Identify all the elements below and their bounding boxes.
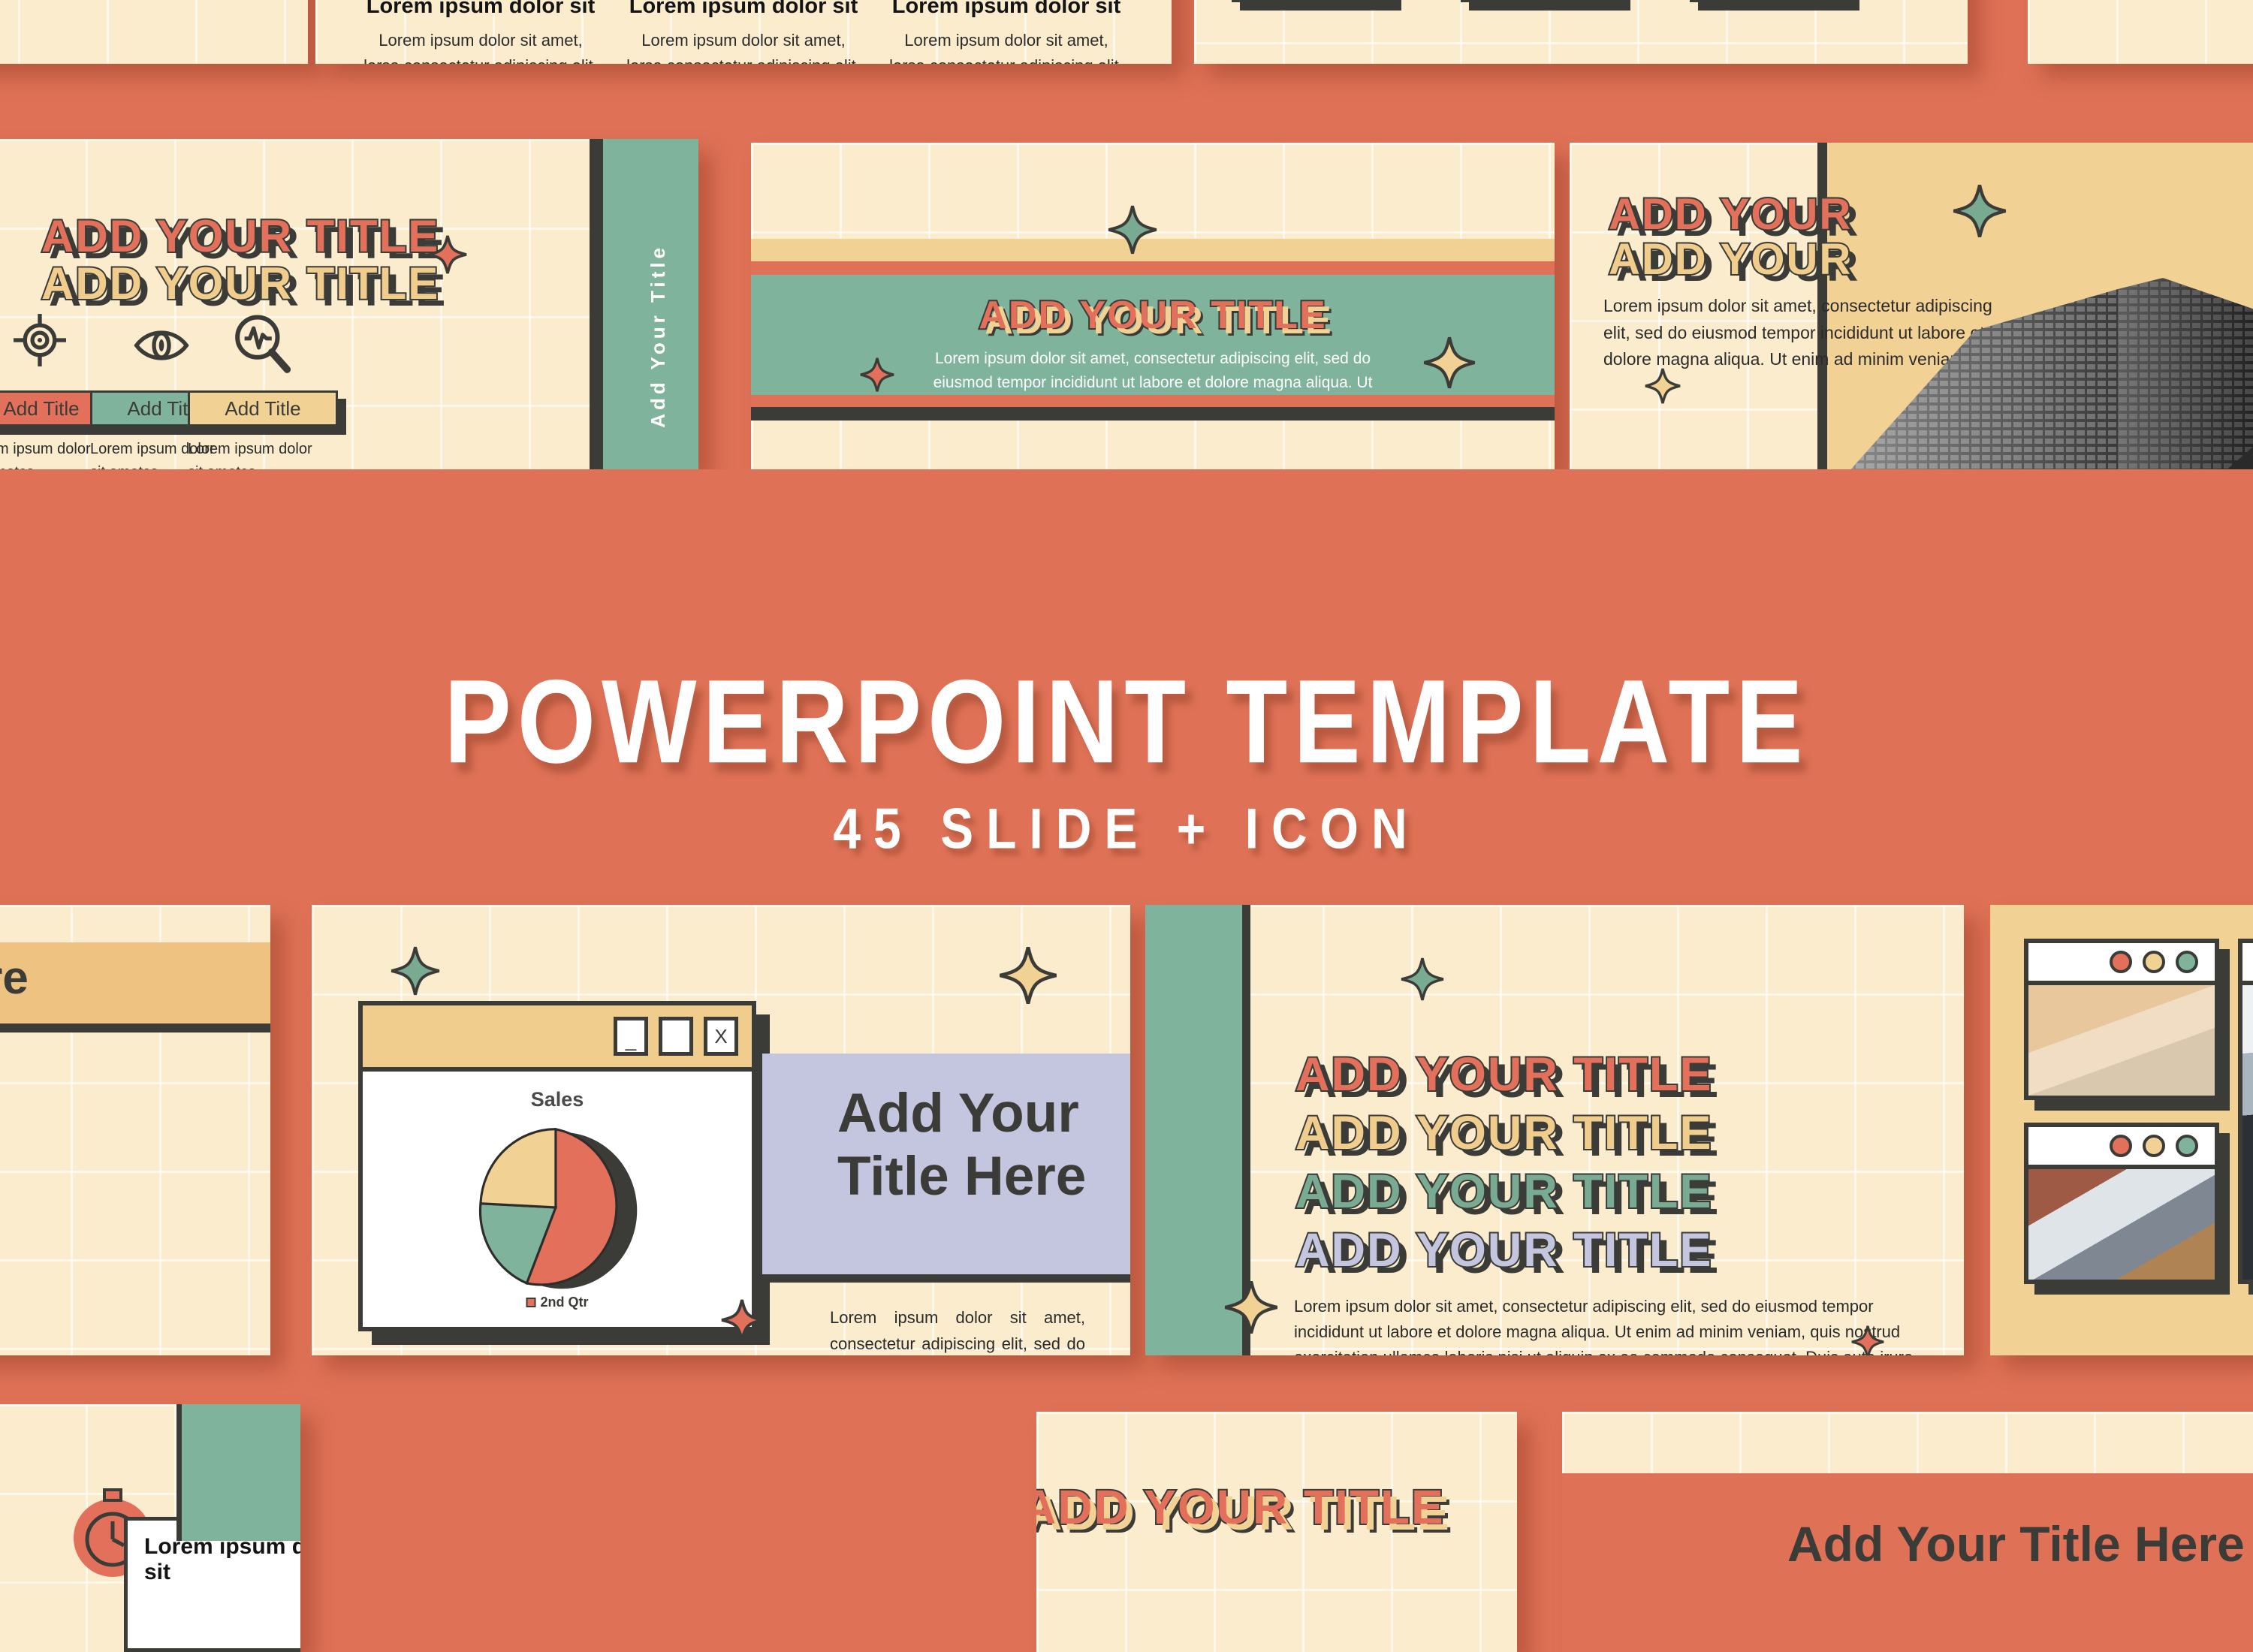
mac-window-1[interactable] <box>2024 939 2219 1100</box>
building-title-line-1: ADD YOUR <box>1609 189 1852 240</box>
slide-chart[interactable]: _ X Sales 2nd Qtr Add Your Titl <box>312 905 1130 1355</box>
slide-features[interactable]: ADD YOUR TITLE ADD YOUR TITLE Add <box>0 139 698 469</box>
feature-button-3[interactable]: Add Title <box>188 390 338 427</box>
title-row-3: ADD YOUR TITLE <box>1295 1165 1712 1219</box>
add-title-button-1[interactable]: Add Title <box>1232 0 1393 2</box>
sparkle-icon-yellow <box>1224 1280 1278 1334</box>
chart-body: Lorem ipsum dolor sit amet, consectetur … <box>830 1304 1085 1355</box>
bottom-right-title: Add Your Title Here <box>1787 1515 2245 1572</box>
slide-top-left-partial[interactable]: tempor incididunt ut labore et ullamco l… <box>0 0 308 64</box>
building-photo <box>1802 248 2253 473</box>
chart-window[interactable]: _ X Sales 2nd Qtr <box>358 1001 756 1331</box>
title-row-1: ADD YOUR TITLE <box>1295 1048 1712 1102</box>
photo-team-meeting <box>2028 985 2215 1096</box>
slide-top-gallery[interactable]: Add Title Add Title Add Title <box>1194 0 1968 64</box>
pulse-search-icon <box>229 310 294 375</box>
slide-top-three-column[interactable]: Lorem ipsum dolor sit Lorem ipsum dolor … <box>315 0 1172 64</box>
mac-window-3[interactable] <box>2238 939 2253 1284</box>
column-3[interactable]: Lorem ipsum dolor sit Lorem ipsum dolor … <box>886 0 1126 64</box>
grid-background <box>1194 0 1968 64</box>
banner-stripe-coral-lower <box>751 395 1555 407</box>
banner-stripe-dark <box>751 407 1555 421</box>
sparkle-icon-coral <box>721 1299 763 1341</box>
close-dot-icon[interactable] <box>2110 951 2132 973</box>
partial-text-line-2: ullamco laboris nisi ut aliquip <box>0 0 38 5</box>
column-heading: Lorem ipsum dolor sit <box>886 0 1126 19</box>
slide-four-titles[interactable]: ADD YOUR TITLE ADD YOUR TITLE ADD YOUR T… <box>1145 905 1964 1355</box>
slide-bottom-center-partial[interactable]: ADD YOUR TITLE <box>1036 1412 1517 1652</box>
sparkle-icon-coral <box>1851 1325 1884 1355</box>
minimize-dot-icon[interactable] <box>2143 951 2165 973</box>
column-body: Lorem ipsum dolor sit amet, lersa consec… <box>886 28 1126 64</box>
maximize-dot-icon[interactable] <box>2176 1135 2198 1157</box>
chart-heading-line-1: Add Your <box>837 1082 1079 1144</box>
heading-band-underline <box>0 1023 270 1032</box>
column-body: Lorem ipsum dolor sit amet, lersa consec… <box>623 28 864 64</box>
green-block <box>176 1404 300 1541</box>
legend-label: 2nd Qtr <box>540 1295 588 1310</box>
features-sidebar <box>590 139 698 469</box>
slide-photo-frames[interactable] <box>1990 905 2253 1355</box>
window-title-bar[interactable]: _ X <box>363 1005 752 1072</box>
add-title-button-2[interactable]: Add Title <box>1461 0 1622 2</box>
chart-canvas: Sales 2nd Qtr <box>363 1072 752 1327</box>
maximize-button[interactable] <box>659 1017 693 1056</box>
card-heading: Lorem ipsum dolor sit <box>144 1534 300 1585</box>
add-title-button-3[interactable]: Add Title <box>1690 0 1851 2</box>
banner-stripe-coral <box>751 261 1555 275</box>
title-row-2: ADD YOUR TITLE <box>1295 1106 1712 1160</box>
bottom-center-title: ADD YOUR TITLE <box>1036 1479 1445 1535</box>
close-dot-icon[interactable] <box>2110 1135 2132 1157</box>
slide-bottom-right-partial[interactable]: Add Your Title Here <box>1562 1412 2253 1652</box>
features-title-line-1: ADD YOUR TITLE <box>41 210 439 262</box>
feature-body-3: Lorem ipsum dolor sit ametca consectetur… <box>188 438 330 469</box>
mac-title-bar[interactable] <box>2028 1127 2215 1169</box>
sparkle-icon-yellow <box>1423 336 1476 389</box>
column-1[interactable]: Lorem ipsum dolor sit Lorem ipsum dolor … <box>360 0 601 64</box>
sparkle-icon-green <box>391 946 440 996</box>
minimize-dot-icon[interactable] <box>2143 1135 2165 1157</box>
column-heading: Lorem ipsum dolor sit <box>623 0 864 19</box>
column-2[interactable]: Lorem ipsum dolor sit Lorem ipsum dolor … <box>623 0 864 64</box>
slide-building[interactable]: ADD YOUR ADD YOUR Lorem ipsum dolor sit … <box>1570 143 2253 473</box>
legend-swatch <box>526 1298 535 1307</box>
column-body: Lorem ipsum dolor sit amet, lersa consec… <box>360 28 601 64</box>
grid-background <box>2028 0 2253 64</box>
close-button[interactable]: X <box>704 1017 738 1056</box>
pie-chart <box>463 1115 651 1303</box>
cream-top-band <box>1562 1412 2253 1473</box>
process-heading: Here <box>0 951 29 1005</box>
column-heading: Lorem ipsum dolor sit <box>360 0 601 19</box>
sparkle-icon-green <box>1953 184 2007 238</box>
grid-background <box>1562 1412 2253 1473</box>
sparkle-icon-coral <box>428 235 467 274</box>
features-sidebar-label: Add Your Title <box>647 244 670 428</box>
title-row-4: ADD YOUR TITLE <box>1295 1223 1712 1277</box>
grid-background <box>0 0 308 64</box>
sparkle-icon-coral <box>860 357 894 392</box>
photo-skyscraper <box>2242 985 2253 1280</box>
maximize-dot-icon[interactable] <box>2176 951 2198 973</box>
slide-top-right-partial[interactable]: fugiat nulla pariatur. <box>2028 0 2253 64</box>
sparkle-icon-green <box>1108 205 1157 255</box>
four-titles-body: Lorem ipsum dolor sit amet, consectetur … <box>1294 1294 1925 1355</box>
features-title-line-2: ADD YOUR TITLE <box>41 258 439 309</box>
green-banner-title: ADD YOUR TITLE <box>979 293 1326 338</box>
close-icon: X <box>714 1025 727 1048</box>
slide-bottom-left-partial[interactable]: d Your Lorem ipsum dolor sit <box>0 1404 300 1652</box>
button-label: Add Title <box>3 397 79 421</box>
sparkle-icon-yellow <box>999 946 1057 1005</box>
slide-process-left-partial[interactable]: Here Add Title m ipsum dolor sit ipsum d… <box>0 905 270 1355</box>
hero-subtitle: 45 SLIDE + ICON <box>0 795 2253 861</box>
mac-window-2[interactable] <box>2024 1123 2219 1284</box>
chart-legend: 2nd Qtr <box>526 1295 588 1310</box>
sparkle-icon-yellow <box>1645 368 1681 404</box>
hero-title: POWERPOINT TEMPLATE <box>0 654 2253 790</box>
sparkle-icon-green <box>1401 957 1444 1001</box>
chart-heading-box: Add Your Title Here <box>762 1054 1130 1283</box>
chart-title: Sales <box>531 1088 584 1111</box>
button-label: Add Title <box>225 397 300 421</box>
mac-title-bar[interactable] <box>2242 943 2253 985</box>
target-icon <box>11 312 68 369</box>
chart-heading-line-2: Title Here <box>837 1145 1086 1207</box>
eye-icon <box>131 323 192 368</box>
green-content-box[interactable]: ADD YOUR TITLE Lorem ipsum dolor sit ame… <box>751 275 1555 395</box>
minimize-button[interactable]: _ <box>614 1017 648 1056</box>
mac-title-bar[interactable] <box>2028 943 2215 985</box>
heading-band <box>0 942 270 1023</box>
photo-high-five <box>2028 1169 2215 1280</box>
slide-green-banner[interactable]: ADD YOUR TITLE Lorem ipsum dolor sit ame… <box>751 143 1555 469</box>
